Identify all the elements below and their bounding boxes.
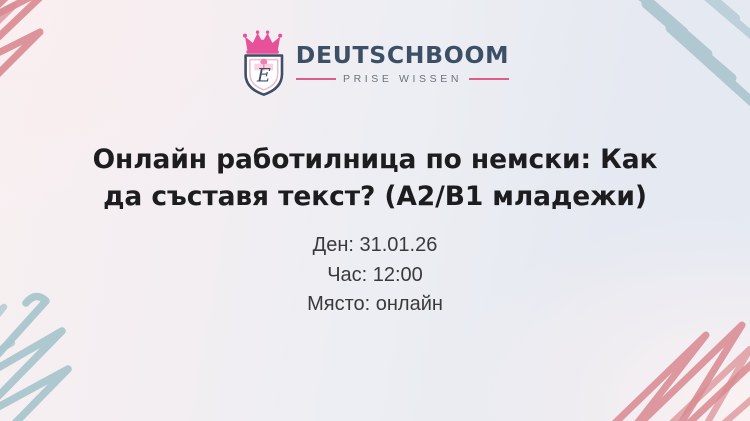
brand-text-block: DEUTSCHBOOM PRISE WISSEN <box>296 40 509 84</box>
shield-icon: E <box>245 56 281 95</box>
tagline-dash-right <box>469 78 509 80</box>
monogram-letter: E <box>256 65 271 87</box>
brand-logo-inner: E DEUTSCHBOOM PRISE WISSEN <box>241 28 509 96</box>
event-time: Час: 12:00 <box>60 261 690 291</box>
crown-shield-crest-icon: E <box>241 28 287 96</box>
event-place: Място: онлайн <box>60 290 690 320</box>
tagline-dash-left <box>296 78 336 80</box>
headline-line-1: Онлайн работилница по немски: Как <box>60 142 690 179</box>
brand-wordmark: DEUTSCHBOOM <box>296 44 509 68</box>
crown-icon <box>243 31 282 54</box>
event-day: Ден: 31.01.26 <box>60 231 690 261</box>
headline-line-2: да съставя текст? (A2/B1 младежи) <box>60 179 690 216</box>
slide-headline: Онлайн работилница по немски: Как да със… <box>60 142 690 215</box>
presentation-slide: E DEUTSCHBOOM PRISE WISSEN Онлайн работи… <box>0 0 750 421</box>
event-details: Ден: 31.01.26 Час: 12:00 Място: онлайн <box>60 231 690 320</box>
brand-tagline: PRISE WISSEN <box>343 74 462 85</box>
brand-logo: E DEUTSCHBOOM PRISE WISSEN <box>0 28 750 96</box>
brand-tagline-row: PRISE WISSEN <box>296 74 509 85</box>
